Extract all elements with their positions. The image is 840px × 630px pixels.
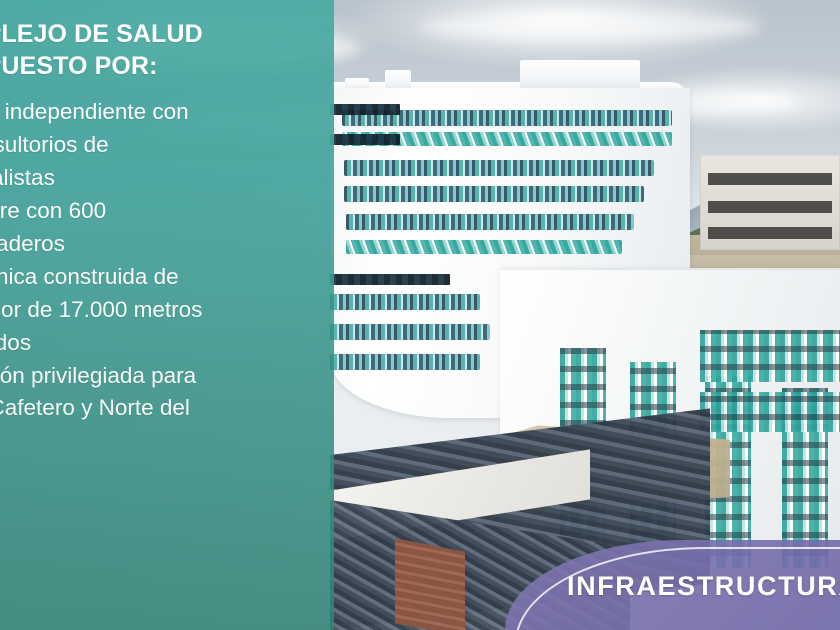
list-item: 80 consultorios de [0,129,322,161]
list-item: Edificio independiente con [0,96,322,128]
panel-body: Edificio independiente con 80 consultori… [0,96,322,457]
louver-panel [700,330,840,382]
headline-line-1: COMPLEJO DE SALUD [0,20,203,48]
louver-panel [700,392,840,432]
list-item: Valle [0,425,322,457]
list-item: el Eje Cafetero y Norte del [0,392,322,424]
list-item: especialistas [0,162,322,194]
slide-root: COMPLEJO DE SALUD COMPUESTO POR: Edifici… [0,0,840,630]
list-item: Ubicación privilegiada para [0,360,322,392]
list-item: alrededor de 17.000 metros [0,294,322,326]
banner-label: INFRAESTRUCTURA [567,571,840,602]
feature-list: Edificio independiente con 80 consultori… [0,96,322,457]
list-item: parqueaderos [0,228,322,260]
cloud [420,12,760,42]
brick-wall [395,538,465,630]
list-item: Una clínica construida de [0,261,322,293]
headline-line-2: COMPUESTO POR: [0,52,158,80]
construction-block [700,155,840,250]
panel-content: COMPLEJO DE SALUD COMPUESTO POR: Edifici… [0,18,322,458]
teal-text-panel: COMPLEJO DE SALUD COMPUESTO POR: Edifici… [0,0,334,630]
panel-headline: COMPLEJO DE SALUD COMPUESTO POR: [0,18,322,82]
list-item: Una torre con 600 [0,195,322,227]
list-item: cuadrados [0,327,322,359]
roof-box [520,60,640,90]
